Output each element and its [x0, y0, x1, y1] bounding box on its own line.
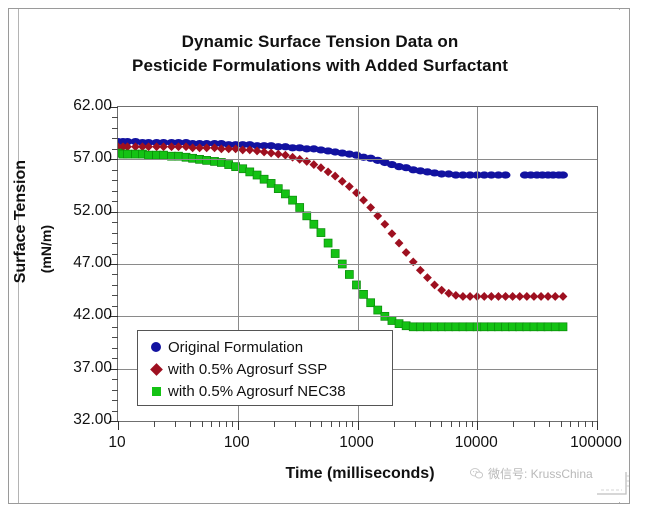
y-axis-tick-label: 42.00: [73, 306, 112, 324]
legend-marker-diamond-icon: [146, 365, 166, 374]
x-axis-tick-label: 100000: [570, 434, 622, 452]
legend: Original Formulation with 0.5% Agrosurf …: [137, 330, 393, 406]
x-axis-tick-label: 10000: [455, 434, 498, 452]
legend-item-nec38: with 0.5% Agrosurf NEC38: [146, 380, 386, 402]
legend-marker-square-icon: [146, 387, 166, 396]
legend-label-nec38: with 0.5% Agrosurf NEC38: [168, 383, 346, 400]
y-axis-title: Surface Tension: [12, 160, 30, 283]
watermark: 微信号: KrussChina: [470, 465, 593, 482]
y-axis-tick-label: 52.00: [73, 202, 112, 220]
y-axis-tick-label: 57.00: [73, 149, 112, 167]
legend-marker-circle-icon: [146, 342, 166, 352]
x-axis-tick-label: 100: [224, 434, 250, 452]
y-axis-tick-label: 37.00: [73, 359, 112, 377]
y-axis-tick-label: 32.00: [73, 411, 112, 429]
legend-item-original: Original Formulation: [146, 336, 386, 358]
chart-screenshot: Dynamic Surface Tension Data on Pesticid…: [0, 0, 648, 510]
legend-item-ssp: with 0.5% Agrosurf SSP: [146, 358, 386, 380]
x-axis-tick-label: 10: [108, 434, 125, 452]
watermark-text: 微信号: KrussChina: [488, 465, 593, 482]
legend-label-original: Original Formulation: [168, 339, 303, 356]
legend-label-ssp: with 0.5% Agrosurf SSP: [168, 361, 327, 378]
y-axis-unit: (mN/m): [38, 225, 54, 273]
y-axis-tick-label: 62.00: [73, 97, 112, 115]
wechat-icon: [470, 468, 483, 479]
watermark-corner-mark: [596, 470, 630, 496]
chart-card: Dynamic Surface Tension Data on Pesticid…: [20, 10, 620, 502]
y-axis-tick-label: 47.00: [73, 254, 112, 272]
tick-label-layer: 32.0037.0042.0047.0052.0057.0062.0010100…: [20, 10, 648, 520]
x-axis-tick-label: 1000: [339, 434, 373, 452]
